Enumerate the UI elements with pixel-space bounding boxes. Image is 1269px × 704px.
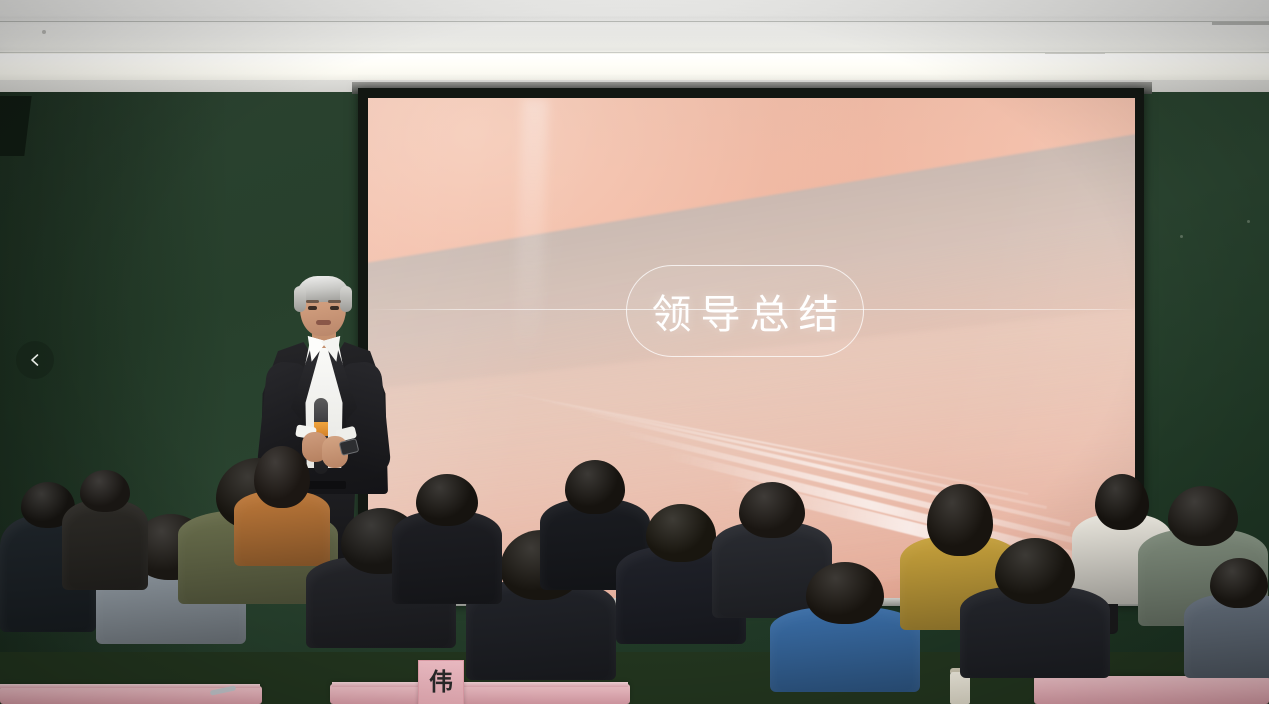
presenter-hair-side bbox=[340, 286, 352, 312]
audience-member-torso bbox=[62, 500, 148, 590]
table-edge bbox=[332, 682, 628, 687]
previous-image-button[interactable] bbox=[16, 341, 54, 379]
presenter-hair-side bbox=[294, 286, 306, 312]
audience-member-head bbox=[1168, 486, 1238, 546]
ceiling-light-strip bbox=[0, 54, 1269, 80]
audience-member-head bbox=[739, 482, 805, 538]
ceiling-seam bbox=[0, 21, 1269, 22]
presenter-eye bbox=[330, 306, 339, 310]
presenter-mouth bbox=[316, 320, 331, 325]
table-row-front bbox=[1034, 676, 1269, 704]
audience-member-head bbox=[80, 470, 130, 512]
audience-member-head bbox=[806, 562, 884, 624]
wall-speck bbox=[1180, 235, 1183, 238]
audience-member bbox=[392, 474, 502, 604]
audience-member-head bbox=[646, 504, 716, 562]
audience-member bbox=[1184, 558, 1269, 678]
audience-member-head bbox=[995, 538, 1075, 604]
wall-speck bbox=[1247, 220, 1250, 223]
table-row-front bbox=[330, 684, 630, 704]
audience-member-head bbox=[1210, 558, 1268, 608]
audience-member bbox=[62, 470, 148, 590]
audience-member bbox=[960, 538, 1110, 678]
audience-member bbox=[770, 562, 920, 692]
ceiling-mount bbox=[1212, 22, 1269, 25]
slide-title: 领导总结 bbox=[643, 282, 848, 340]
presenter-brow bbox=[328, 300, 341, 303]
presenter-brow bbox=[306, 300, 319, 303]
name-placard: 伟 bbox=[418, 660, 464, 704]
audience-member-head bbox=[416, 474, 478, 526]
audience bbox=[0, 430, 1269, 704]
slide-title-badge: 领导总结 bbox=[626, 265, 864, 357]
photo-viewer-stage: 领导总结 bbox=[0, 0, 1269, 704]
ceiling-fixture-dot bbox=[42, 30, 46, 34]
presenter-eye bbox=[308, 306, 317, 310]
chevron-left-icon bbox=[27, 352, 43, 368]
audience-member-head bbox=[254, 446, 310, 508]
name-placard-text: 伟 bbox=[429, 671, 453, 695]
